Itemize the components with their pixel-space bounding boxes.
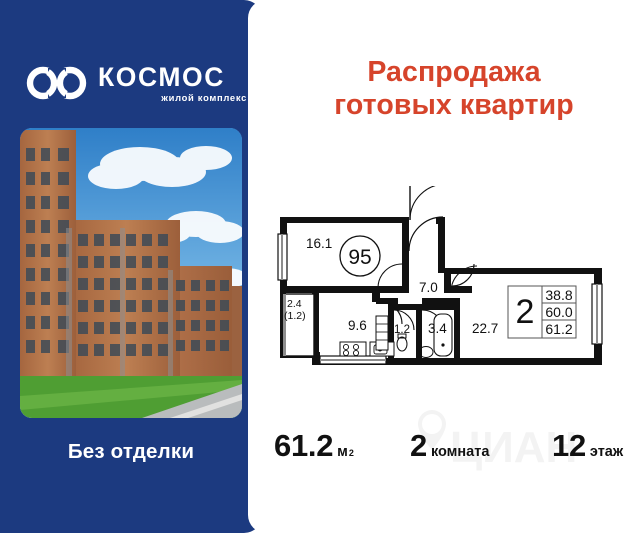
brand-title: КОСМОС xyxy=(98,62,248,92)
headline-line-2: готовых квартир xyxy=(278,89,630,122)
room-area-96: 9.6 xyxy=(348,318,367,333)
room-area-34: 3.4 xyxy=(428,321,447,336)
room-area-227: 22.7 xyxy=(472,321,498,336)
spec-area-unit: м xyxy=(337,444,348,460)
apartment-specs: 61.2 м 2 2 комната 12 этаж xyxy=(262,428,640,476)
spec-area-unit-exponent: 2 xyxy=(349,448,354,458)
room-area-12: 1.2 xyxy=(394,324,410,336)
plan-legend: 2 38.8 60.0 61.2 xyxy=(508,286,576,338)
spec-rooms: 2 комната xyxy=(410,428,489,476)
headline-line-1: Распродажа xyxy=(278,56,630,89)
spec-area: 61.2 м 2 xyxy=(274,428,354,476)
legend-area-no-balcony: 60.0 xyxy=(545,304,572,320)
legend-living-area: 38.8 xyxy=(545,287,572,303)
spec-floor: 12 этаж xyxy=(552,428,623,476)
infinity-icon xyxy=(26,66,88,100)
page-title: Распродажа готовых квартир xyxy=(278,56,630,122)
brand-logo: КОСМОС жилой комплекс xyxy=(26,62,241,114)
spec-floor-unit: этаж xyxy=(590,444,623,460)
legend-total-area: 61.2 xyxy=(545,321,572,337)
spec-rooms-unit: комната xyxy=(431,444,489,460)
legend-rooms-count: 2 xyxy=(516,293,535,331)
apartment-number: 95 xyxy=(348,246,371,269)
advertisement-banner: КОСМОС жилой комплекс xyxy=(0,0,640,533)
finish-type-caption: Без отделки xyxy=(0,440,262,464)
spec-floor-value: 12 xyxy=(552,428,586,464)
residential-building-photo xyxy=(20,128,242,418)
balcony-area-counted: (1.2) xyxy=(284,310,306,322)
apartment-number-badge: 95 xyxy=(340,236,380,276)
spec-rooms-value: 2 xyxy=(410,428,427,464)
floor-plan: 16.1 9.6 7.0 1.2 3.4 22.7 2.4 (1.2) 95 xyxy=(276,186,624,382)
spec-area-value: 61.2 xyxy=(274,428,333,464)
balcony-area: 2.4 xyxy=(287,298,302,310)
brand-subtitle: жилой комплекс xyxy=(98,92,248,104)
room-area-16: 16.1 xyxy=(306,236,332,251)
room-area-70: 7.0 xyxy=(419,280,438,295)
